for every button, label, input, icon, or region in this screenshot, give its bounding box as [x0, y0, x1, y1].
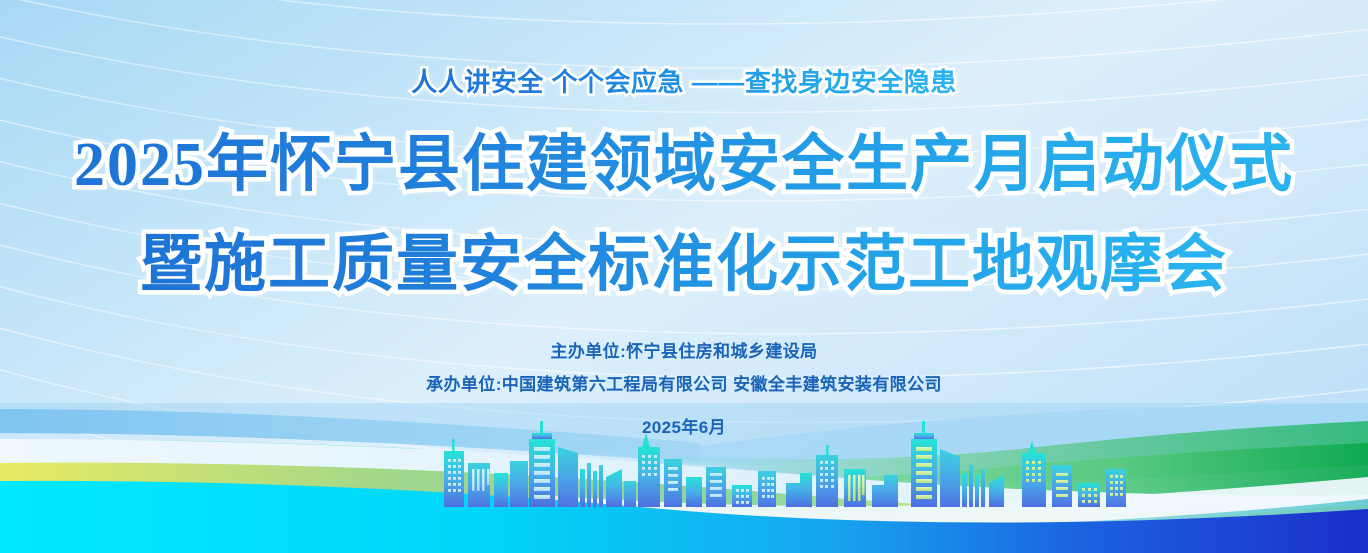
event-date: 2025年6月 [0, 413, 1368, 438]
main-title-line-2: 暨施工质量安全标准化示范工地观摩会 暨施工质量安全标准化示范工地观摩会 [140, 213, 1228, 303]
slogan: 人人讲安全 个个会应急 ——查找身边安全隐患 人人讲安全 个个会应急 ——查找身… [411, 62, 956, 99]
banner-text-stack: 人人讲安全 个个会应急 ——查找身边安全隐患 人人讲安全 个个会应急 ——查找身… [0, 0, 1368, 438]
organizer-block: 主办单位:怀宁县住房和城乡建设局 承办单位:中国建筑第六工程局有限公司 安徽全丰… [0, 343, 1368, 438]
slogan-row: 人人讲安全 个个会应急 ——查找身边安全隐患 人人讲安全 个个会应急 ——查找身… [0, 62, 1368, 99]
slogan-fill: 人人讲安全 个个会应急 ——查找身边安全隐患 [411, 67, 956, 97]
main-title-line-2-row: 暨施工质量安全标准化示范工地观摩会 暨施工质量安全标准化示范工地观摩会 [0, 213, 1368, 303]
main-title-line-1-row: 2025年怀宁县住建领域安全生产月启动仪式 2025年怀宁县住建领域安全生产月启… [0, 113, 1368, 203]
event-banner: 人人讲安全 个个会应急 ——查找身边安全隐患 人人讲安全 个个会应急 ——查找身… [0, 0, 1368, 553]
main-title-line-2-fill: 暨施工质量安全标准化示范工地观摩会 [140, 231, 1228, 299]
main-title-line-1: 2025年怀宁县住建领域安全生产月启动仪式 2025年怀宁县住建领域安全生产月启… [74, 113, 1294, 203]
host-unit-line: 主办单位:怀宁县住房和城乡建设局 [0, 343, 1368, 360]
main-title-line-1-fill: 2025年怀宁县住建领域安全生产月启动仪式 [74, 131, 1294, 199]
organizer-unit-line: 承办单位:中国建筑第六工程局有限公司 安徽全丰建筑安装有限公司 [0, 376, 1368, 393]
